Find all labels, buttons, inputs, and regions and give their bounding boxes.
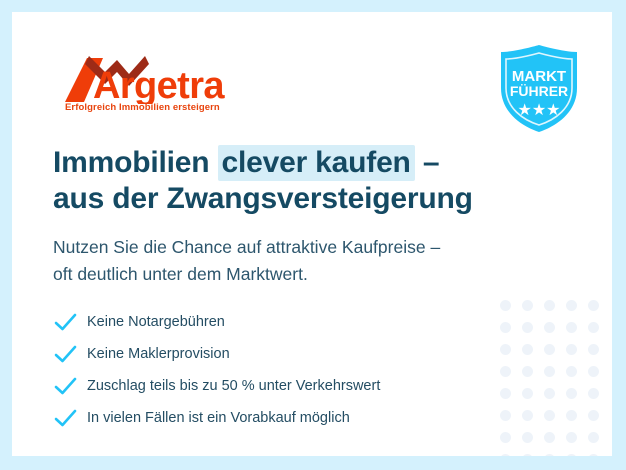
check-icon bbox=[53, 408, 79, 428]
grid-dot bbox=[566, 454, 577, 456]
badge-line2: FÜHRER bbox=[510, 83, 568, 99]
shield-badge-icon: MARKT FÜHRER ★★★ bbox=[491, 40, 587, 136]
subheading-line-1: Nutzen Sie die Chance auf attraktive Kau… bbox=[53, 234, 553, 261]
list-item: In vielen Fällen ist ein Vorabkauf mögli… bbox=[53, 402, 533, 434]
grid-dot bbox=[566, 388, 577, 399]
benefits-list: Keine NotargebührenKeine Maklerprovision… bbox=[53, 306, 533, 434]
list-item-label: Keine Notargebühren bbox=[79, 314, 225, 330]
page-title: Immobilien clever kaufen – aus der Zwang… bbox=[53, 145, 553, 217]
grid-dot bbox=[544, 454, 555, 456]
grid-dot bbox=[588, 300, 599, 311]
check-icon bbox=[53, 312, 79, 332]
grid-dot bbox=[566, 344, 577, 355]
argetra-logo: Argetra Erfolgreich Immobilien ersteiger… bbox=[53, 50, 243, 122]
grid-dot bbox=[588, 454, 599, 456]
grid-dot bbox=[566, 366, 577, 377]
grid-dot bbox=[588, 388, 599, 399]
grid-dot bbox=[588, 432, 599, 443]
list-item: Keine Notargebühren bbox=[53, 306, 533, 338]
grid-dot bbox=[588, 322, 599, 333]
check-icon bbox=[53, 344, 79, 364]
grid-dot bbox=[588, 410, 599, 421]
list-item-label: In vielen Fällen ist ein Vorabkauf mögli… bbox=[79, 410, 350, 426]
grid-dot bbox=[544, 366, 555, 377]
grid-dot bbox=[566, 322, 577, 333]
markt-fuehrer-badge: MARKT FÜHRER ★★★ bbox=[491, 40, 587, 136]
grid-dot bbox=[588, 366, 599, 377]
headline-highlight: clever kaufen bbox=[218, 145, 415, 181]
banner-card: Argetra Erfolgreich Immobilien ersteiger… bbox=[12, 12, 612, 456]
grid-dot bbox=[544, 388, 555, 399]
grid-dot bbox=[544, 322, 555, 333]
list-item: Zuschlag teils bis zu 50 % unter Verkehr… bbox=[53, 370, 533, 402]
badge-stars: ★★★ bbox=[517, 100, 560, 119]
grid-dot bbox=[544, 410, 555, 421]
svg-text:Argetra: Argetra bbox=[93, 65, 225, 104]
grid-dot bbox=[588, 344, 599, 355]
grid-dot bbox=[544, 344, 555, 355]
grid-dot bbox=[566, 432, 577, 443]
argetra-logo-mark: Argetra bbox=[53, 50, 243, 104]
list-item: Keine Maklerprovision bbox=[53, 338, 533, 370]
headline-line-1: Immobilien clever kaufen – bbox=[53, 145, 553, 181]
promo-banner: Argetra Erfolgreich Immobilien ersteiger… bbox=[0, 0, 626, 470]
list-item-label: Zuschlag teils bis zu 50 % unter Verkehr… bbox=[79, 378, 380, 394]
grid-dot bbox=[544, 300, 555, 311]
grid-dot bbox=[544, 432, 555, 443]
grid-dot bbox=[522, 454, 533, 456]
headline-line-2: aus der Zwangsversteigerung bbox=[53, 181, 553, 217]
headline-prefix: Immobilien bbox=[53, 146, 218, 179]
check-icon bbox=[53, 376, 79, 396]
list-item-label: Keine Maklerprovision bbox=[79, 346, 230, 362]
logo-tagline: Erfolgreich Immobilien ersteigern bbox=[65, 102, 220, 113]
grid-dot bbox=[500, 454, 511, 456]
headline-suffix: – bbox=[415, 146, 440, 179]
subheading-line-2: oft deutlich unter dem Marktwert. bbox=[53, 261, 553, 288]
subheading: Nutzen Sie die Chance auf attraktive Kau… bbox=[53, 234, 553, 288]
grid-dot bbox=[566, 300, 577, 311]
grid-dot bbox=[566, 410, 577, 421]
